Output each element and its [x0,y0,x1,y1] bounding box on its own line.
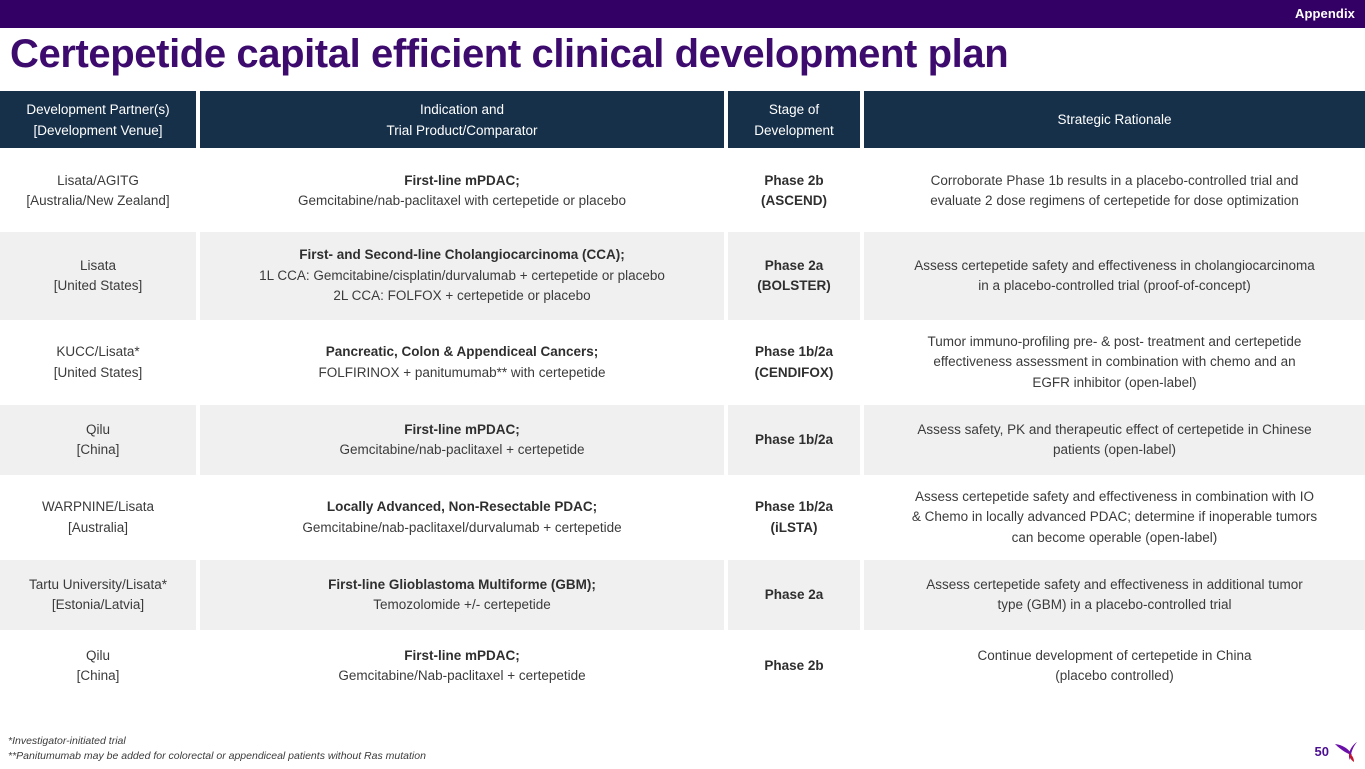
rationale-line-1: Corroborate Phase 1b results in a placeb… [931,171,1299,192]
cell-rationale: Assess certepetide safety and effectiven… [864,560,1365,630]
stage-phase: Phase 2b [764,171,823,192]
column-header-line1: Strategic Rationale [1057,109,1171,130]
footnote-1: *Investigator-initiated trial [8,734,426,749]
indication-detail-2: 2L CCA: FOLFOX + certepetide or placebo [333,286,590,307]
partner-name: Qilu [86,420,110,441]
partner-venue: [Australia] [68,518,128,539]
rationale-line-2: (placebo controlled) [1055,666,1174,687]
cell-stage: Phase 2b (ASCEND) [728,150,860,232]
rationale-line-2: type (GBM) in a placebo-controlled trial [997,595,1231,616]
rationale-line-1: Assess certepetide safety and effectiven… [926,575,1302,596]
cell-stage: Phase 1b/2a (CENDIFOX) [728,320,860,405]
rationale-line-2: in a placebo-controlled trial (proof-of-… [978,276,1250,297]
rationale-line-2: patients (open-label) [1053,440,1176,461]
partner-venue: [China] [77,666,120,687]
partner-venue: [Estonia/Latvia] [52,595,144,616]
indication-title: First-line mPDAC; [404,646,520,667]
top-banner: Appendix [0,0,1365,28]
indication-title: Pancreatic, Colon & Appendiceal Cancers; [326,342,599,363]
cell-partner: Lisata/AGITG [Australia/New Zealand] [0,150,196,232]
cell-indication: First-line mPDAC; Gemcitabine/Nab-paclit… [200,630,724,702]
table-header-row: Development Partner(s) [Development Venu… [0,91,1365,148]
table-row: Tartu University/Lisata* [Estonia/Latvia… [0,560,1365,630]
indication-title: First-line Glioblastoma Multiforme (GBM)… [328,575,596,596]
column-header-line1: Stage of [769,99,819,120]
column-header-development-partner: Development Partner(s) [Development Venu… [0,91,196,148]
rationale-line-3: EGFR inhibitor (open-label) [1032,373,1196,394]
cell-stage: Phase 1b/2a [728,405,860,475]
table-row: WARPNINE/Lisata [Australia] Locally Adva… [0,475,1365,560]
column-header-strategic-rationale: Strategic Rationale [864,91,1365,148]
rationale-line-2: evaluate 2 dose regimens of certepetide … [930,191,1298,212]
rationale-line-2: & Chemo in locally advanced PDAC; determ… [912,507,1317,528]
stage-phase: Phase 1b/2a [755,497,833,518]
table-row: Lisata [United States] First- and Second… [0,232,1365,320]
table-row: Qilu [China] First-line mPDAC; Gemcitabi… [0,630,1365,702]
cell-indication: Locally Advanced, Non-Resectable PDAC; G… [200,475,724,560]
cell-stage: Phase 1b/2a (iLSTA) [728,475,860,560]
stage-phase: Phase 1b/2a [755,430,833,451]
cell-partner: WARPNINE/Lisata [Australia] [0,475,196,560]
stage-phase: Phase 2b [764,656,823,677]
cell-stage: Phase 2b [728,630,860,702]
rationale-line-1: Tumor immuno-profiling pre- & post- trea… [928,332,1302,353]
stage-trial-name: (ASCEND) [761,191,827,212]
slide: Appendix Certepetide capital efficient c… [0,0,1365,768]
cell-rationale: Tumor immuno-profiling pre- & post- trea… [864,320,1365,405]
rationale-line-2: effectiveness assessment in combination … [933,352,1295,373]
column-header-line2: Development [754,120,834,141]
cell-indication: First-line Glioblastoma Multiforme (GBM)… [200,560,724,630]
partner-venue: [United States] [54,363,143,384]
rationale-line-1: Assess certepetide safety and effectiven… [914,256,1314,277]
indication-detail-1: Temozolomide +/- certepetide [373,595,550,616]
column-header-line1: Development Partner(s) [26,99,169,120]
indication-detail-1: Gemcitabine/nab-paclitaxel/durvalumab + … [302,518,621,539]
partner-name: Tartu University/Lisata* [29,575,167,596]
indication-detail-1: Gemcitabine/nab-paclitaxel + certepetide [339,440,584,461]
cell-indication: Pancreatic, Colon & Appendiceal Cancers;… [200,320,724,405]
stage-phase: Phase 2a [765,256,824,277]
cell-rationale: Assess safety, PK and therapeutic effect… [864,405,1365,475]
appendix-label: Appendix [1295,0,1355,28]
cell-partner: Qilu [China] [0,630,196,702]
indication-detail-1: FOLFIRINOX + panitumumab** with certepet… [318,363,605,384]
cell-partner: Tartu University/Lisata* [Estonia/Latvia… [0,560,196,630]
footnotes: *Investigator-initiated trial **Panitumu… [8,734,426,764]
indication-title: First- and Second-line Cholangiocarcinom… [299,245,625,266]
cell-partner: Lisata [United States] [0,232,196,320]
table-row: Qilu [China] First-line mPDAC; Gemcitabi… [0,405,1365,475]
stage-phase: Phase 2a [765,585,824,606]
partner-name: KUCC/Lisata* [56,342,139,363]
cell-rationale: Assess certepetide safety and effectiven… [864,475,1365,560]
cell-rationale: Continue development of certepetide in C… [864,630,1365,702]
cell-indication: First- and Second-line Cholangiocarcinom… [200,232,724,320]
indication-detail-1: 1L CCA: Gemcitabine/cisplatin/durvalumab… [259,266,665,287]
stage-trial-name: (BOLSTER) [757,276,831,297]
rationale-line-1: Continue development of certepetide in C… [978,646,1252,667]
indication-title: First-line mPDAC; [404,420,520,441]
partner-venue: [China] [77,440,120,461]
stage-trial-name: (iLSTA) [771,518,818,539]
page-number: 50 [1315,744,1329,759]
cell-indication: First-line mPDAC; Gemcitabine/nab-paclit… [200,150,724,232]
stage-trial-name: (CENDIFOX) [755,363,834,384]
partner-name: Qilu [86,646,110,667]
stage-phase: Phase 1b/2a [755,342,833,363]
indication-title: Locally Advanced, Non-Resectable PDAC; [327,497,597,518]
indication-title: First-line mPDAC; [404,171,520,192]
column-header-line1: Indication and [420,99,504,120]
footnote-2: **Panitumumab may be added for colorecta… [8,749,426,764]
rationale-line-1: Assess certepetide safety and effectiven… [915,487,1314,508]
cell-stage: Phase 2a (BOLSTER) [728,232,860,320]
cell-stage: Phase 2a [728,560,860,630]
column-header-indication: Indication and Trial Product/Comparator [200,91,724,148]
rationale-line-3: can become operable (open-label) [1012,528,1218,549]
page-title: Certepetide capital efficient clinical d… [10,32,1008,77]
development-plan-table: Development Partner(s) [Development Venu… [0,91,1365,702]
partner-venue: [Australia/New Zealand] [26,191,169,212]
partner-venue: [United States] [54,276,143,297]
cell-indication: First-line mPDAC; Gemcitabine/nab-paclit… [200,405,724,475]
cell-partner: Qilu [China] [0,405,196,475]
partner-name: Lisata/AGITG [57,171,139,192]
lisata-bird-logo [1333,740,1359,764]
indication-detail-1: Gemcitabine/Nab-paclitaxel + certepetide [338,666,585,687]
rationale-line-1: Assess safety, PK and therapeutic effect… [917,420,1311,441]
column-header-line2: Trial Product/Comparator [386,120,537,141]
column-header-line2: [Development Venue] [33,120,162,141]
partner-name: Lisata [80,256,116,277]
table-row: KUCC/Lisata* [United States] Pancreatic,… [0,320,1365,405]
cell-rationale: Assess certepetide safety and effectiven… [864,232,1365,320]
table-row: Lisata/AGITG [Australia/New Zealand] Fir… [0,150,1365,232]
indication-detail-1: Gemcitabine/nab-paclitaxel with certepet… [298,191,626,212]
cell-partner: KUCC/Lisata* [United States] [0,320,196,405]
cell-rationale: Corroborate Phase 1b results in a placeb… [864,150,1365,232]
partner-name: WARPNINE/Lisata [42,497,154,518]
column-header-stage: Stage of Development [728,91,860,148]
